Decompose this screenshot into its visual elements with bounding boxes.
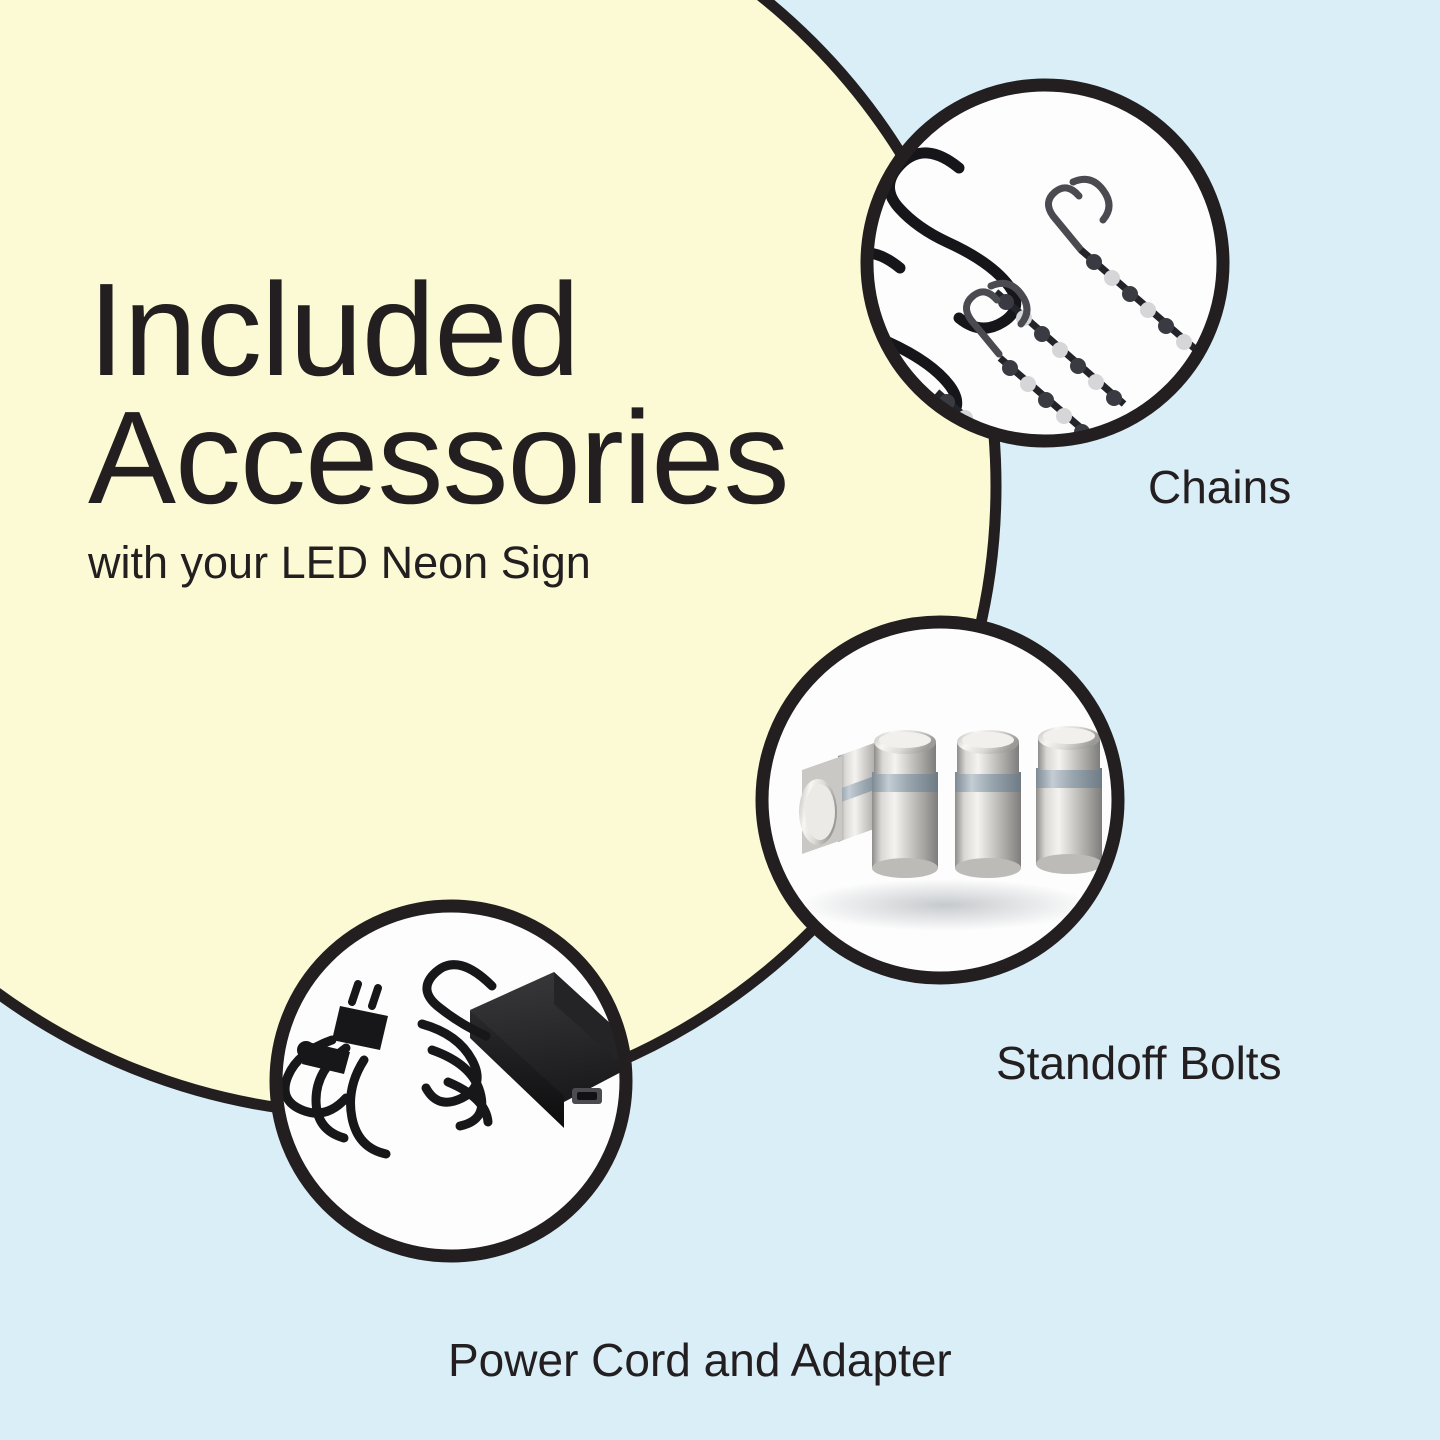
infographic-canvas: Included Accessories with your LED Neon …	[0, 0, 1440, 1440]
page-title-line1: Included	[88, 268, 908, 392]
page-subtitle: with your LED Neon Sign	[88, 538, 908, 588]
headline-block: Included Accessories with your LED Neon …	[88, 268, 908, 588]
graphic-layer	[0, 0, 1440, 1440]
callout-label-power-cord: Power Cord and Adapter	[448, 1333, 952, 1387]
standoff-bolt-icon	[872, 730, 938, 878]
callout-circle-standoff-bolts[interactable]	[760, 620, 1122, 982]
standoff-bolt-icon	[955, 730, 1021, 878]
callout-label-standoff-bolts: Standoff Bolts	[996, 1036, 1282, 1090]
standoff-bolt-icon	[1036, 726, 1102, 874]
page-title-line2: Accessories	[88, 396, 908, 520]
callout-label-chains: Chains	[1148, 460, 1291, 514]
